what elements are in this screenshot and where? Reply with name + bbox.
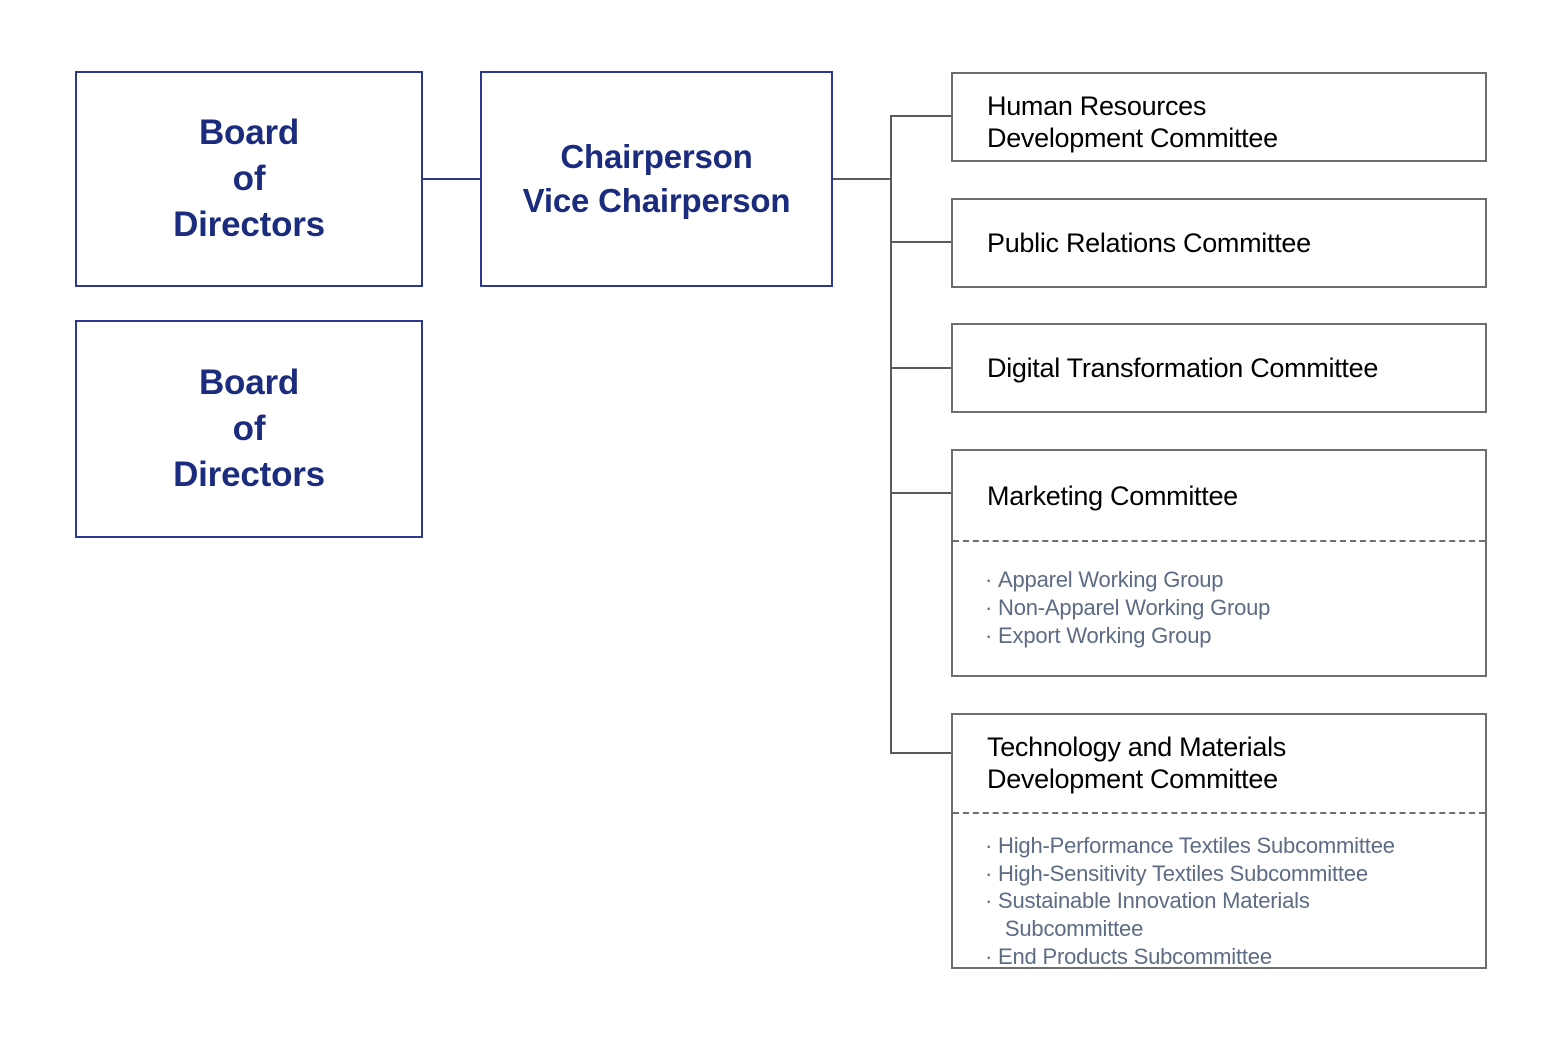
committee-box-public-relations: Public Relations Committee bbox=[951, 198, 1487, 288]
committee-title: Human ResourcesDevelopment Committee bbox=[953, 74, 1485, 155]
committee-box-human-resources-development: Human ResourcesDevelopment Committee bbox=[951, 72, 1487, 162]
chairperson-label: ChairpersonVice Chairperson bbox=[523, 135, 791, 222]
connector-branch-2 bbox=[890, 367, 951, 369]
committee-title: Technology and MaterialsDevelopment Comm… bbox=[953, 715, 1485, 812]
committee-box-marketing: Marketing Committee Apparel Working Grou… bbox=[951, 449, 1487, 677]
committee-title: Marketing Committee bbox=[953, 451, 1485, 540]
connector-branch-4 bbox=[890, 752, 951, 754]
list-item: High-Performance Textiles Subcommittee bbox=[985, 832, 1485, 860]
list-item: High-Sensitivity Textiles Subcommittee bbox=[985, 860, 1485, 888]
board-of-directors-box-2: BoardofDirectors bbox=[75, 320, 423, 538]
list-item: Apparel Working Group bbox=[985, 566, 1485, 594]
connector-chairperson-to-trunk bbox=[833, 178, 891, 180]
subcommittee-list: High-Performance Textiles SubcommitteeHi… bbox=[953, 814, 1485, 971]
connector-branch-3 bbox=[890, 492, 951, 494]
connector-board-to-chairperson bbox=[423, 178, 480, 180]
list-item: End Products Subcommittee bbox=[985, 943, 1485, 971]
connector-branch-1 bbox=[890, 241, 951, 243]
list-item: Sustainable Innovation Materials Subcomm… bbox=[985, 887, 1485, 942]
board-of-directors-label-2: BoardofDirectors bbox=[173, 360, 325, 499]
working-group-list: Apparel Working GroupNon-Apparel Working… bbox=[953, 542, 1485, 649]
connector-vertical-trunk bbox=[890, 115, 892, 754]
committee-title: Public Relations Committee bbox=[953, 200, 1485, 259]
board-of-directors-box-1: BoardofDirectors bbox=[75, 71, 423, 287]
org-chart-canvas: BoardofDirectors BoardofDirectors Chairp… bbox=[0, 0, 1560, 1040]
committee-title: Digital Transformation Committee bbox=[953, 325, 1485, 384]
list-item: Non-Apparel Working Group bbox=[985, 594, 1485, 622]
board-of-directors-label-1: BoardofDirectors bbox=[173, 110, 325, 249]
list-item: Export Working Group bbox=[985, 622, 1485, 650]
chairperson-box: ChairpersonVice Chairperson bbox=[480, 71, 833, 287]
connector-branch-0 bbox=[890, 115, 951, 117]
committee-box-technology-and-materials-development: Technology and MaterialsDevelopment Comm… bbox=[951, 713, 1487, 969]
committee-box-digital-transformation: Digital Transformation Committee bbox=[951, 323, 1487, 413]
